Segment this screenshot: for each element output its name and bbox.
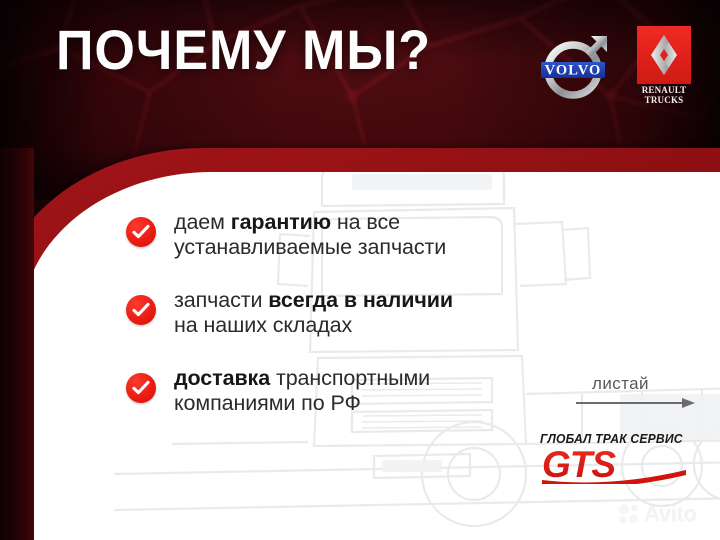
avito-watermark: Avito (618, 503, 697, 525)
benefit-text: даем гарантию на все устанавливаемые зап… (174, 210, 446, 260)
benefit-line1-bold: доставка (174, 366, 270, 390)
benefit-text: доставка транспортными компаниями по РФ (174, 366, 430, 416)
check-circle-icon (126, 295, 156, 325)
swipe-hint: листай (592, 374, 649, 394)
page-title: ПОЧЕМУ МЫ? (56, 22, 431, 78)
company-wordmark: GTS (540, 444, 690, 489)
renault-wordmark-line2: TRUCKS (642, 96, 687, 106)
check-circle-icon (126, 373, 156, 403)
avito-label: Avito (644, 503, 697, 525)
benefit-line1-pre: запчасти (174, 288, 268, 312)
list-item: запчасти всегда в наличии на наших склад… (126, 288, 546, 338)
volvo-wordmark: VOLVO (545, 63, 602, 79)
arrow-right-icon (576, 396, 696, 408)
benefit-text: запчасти всегда в наличии на наших склад… (174, 288, 453, 338)
brand-logos: VOLVO (538, 26, 694, 108)
benefit-line1-bold: гарантию (231, 210, 331, 234)
benefit-line2: компаниями по РФ (174, 391, 361, 415)
volvo-logo: VOLVO (538, 30, 612, 104)
renault-diamond-badge (637, 26, 691, 84)
benefit-line2: устанавливаемые запчасти (174, 235, 446, 259)
renault-trucks-logo: RENAULT TRUCKS (634, 26, 694, 108)
avito-dots-icon (618, 503, 640, 525)
renault-wordmark: RENAULT TRUCKS (642, 86, 687, 105)
list-item: даем гарантию на все устанавливаемые зап… (126, 210, 546, 260)
company-tagline: ГЛОБАЛ ТРАК СЕРВИС (540, 432, 686, 446)
benefit-line1-post: транспортными (270, 366, 430, 390)
benefit-line2: на наших складах (174, 313, 352, 337)
gts-letters: GTS (542, 444, 616, 484)
list-item: доставка транспортными компаниями по РФ (126, 366, 546, 416)
benefit-line1-bold: всегда в наличии (268, 288, 453, 312)
renault-diamond-icon (649, 34, 679, 76)
company-logo: ГЛОБАЛ ТРАК СЕРВИС GTS (540, 432, 690, 489)
check-circle-icon (126, 217, 156, 247)
swipe-hint-label: листай (592, 374, 649, 394)
benefit-line1-pre: даем (174, 210, 231, 234)
promo-slide: ПОЧЕМУ МЫ? (0, 0, 720, 540)
benefit-line1-post: на все (331, 210, 400, 234)
left-edge-strip (0, 148, 34, 540)
benefits-list: даем гарантию на все устанавливаемые зап… (126, 210, 546, 444)
